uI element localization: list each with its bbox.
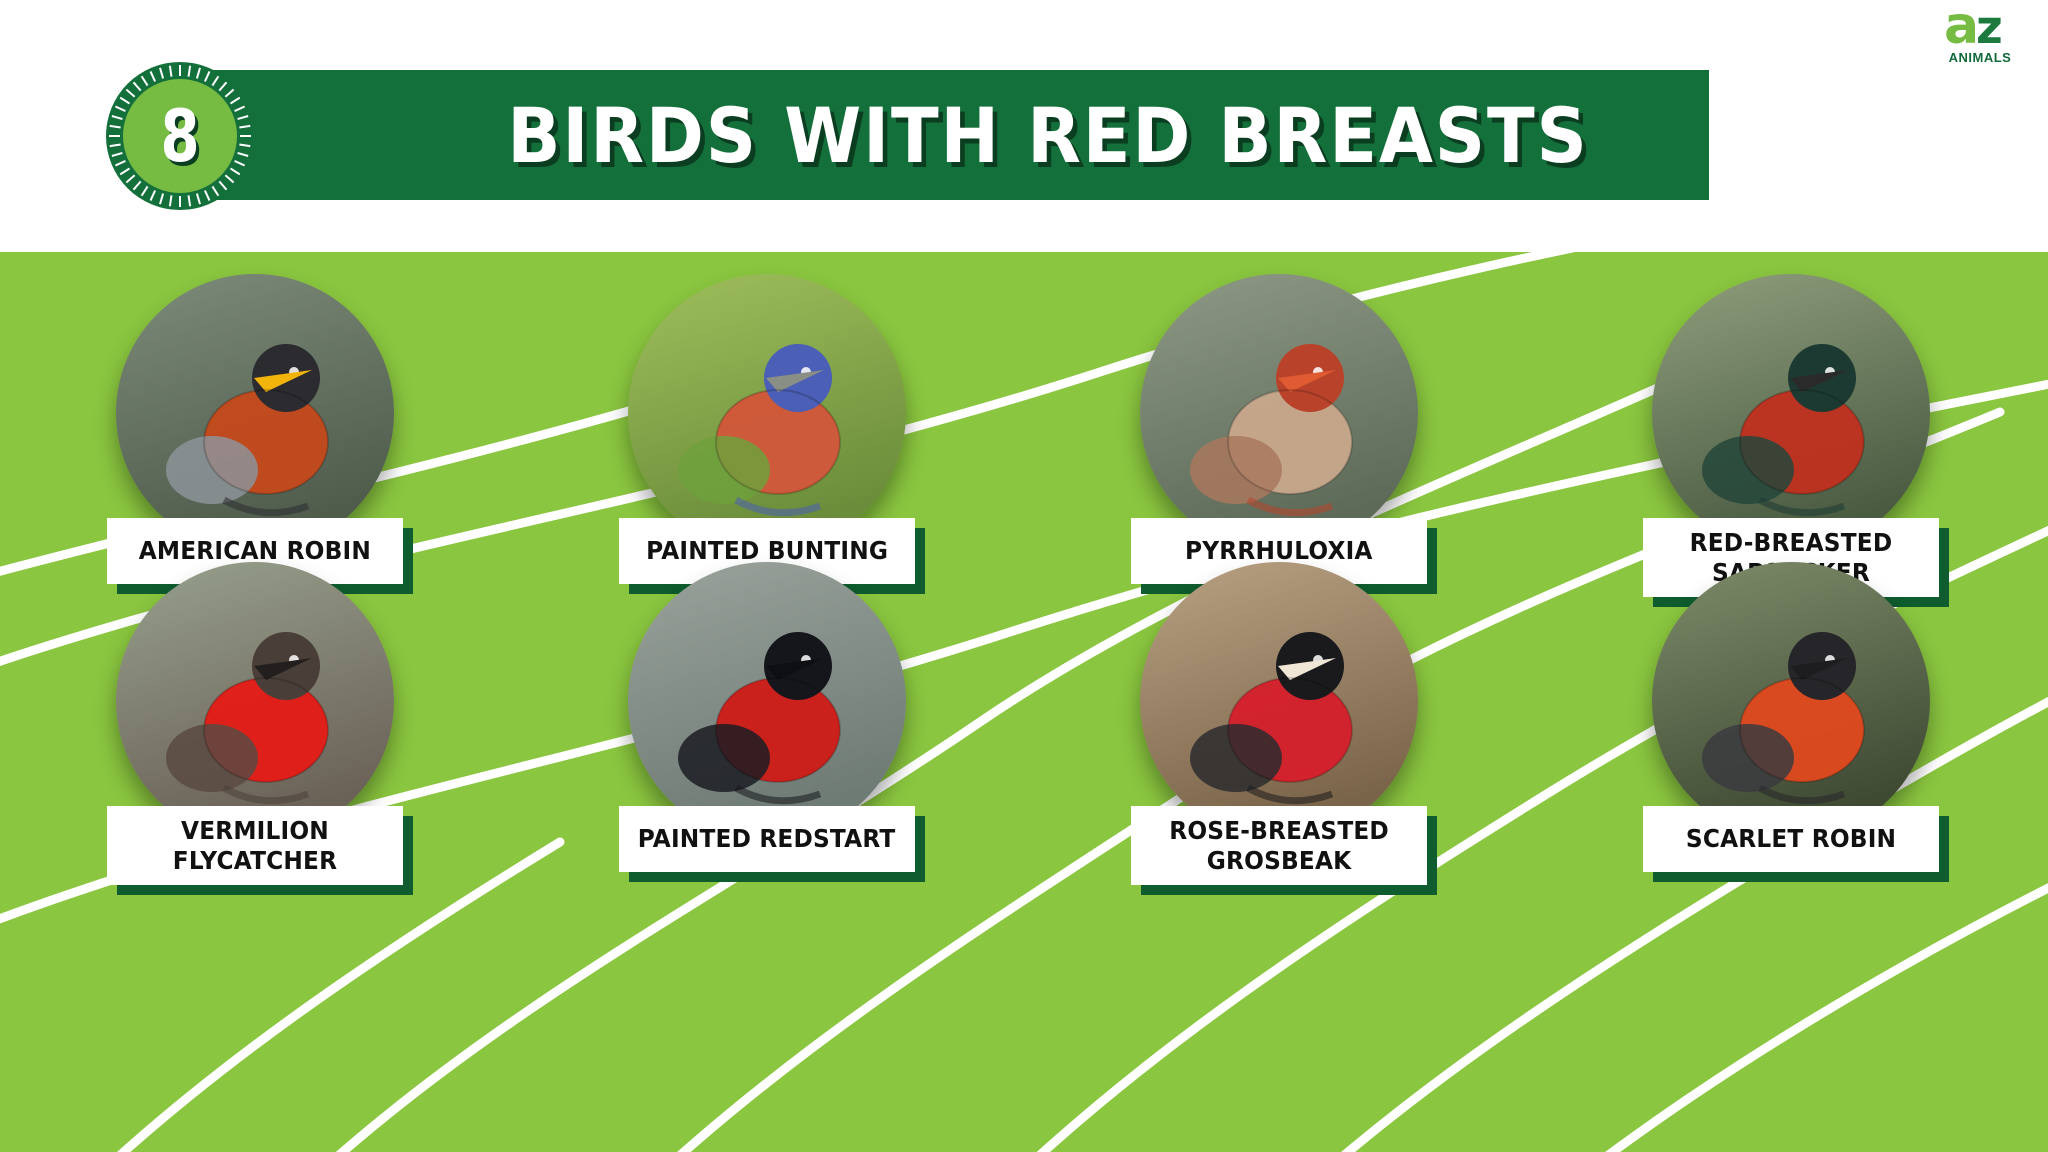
bird-label-box: VERMILION FLYCATCHER <box>107 806 403 885</box>
title-bar: BIRDS WITH RED BREASTS <box>148 70 1709 200</box>
bird-card[interactable]: RED-BREASTED SAPSUCKER <box>1626 274 1956 597</box>
bird-photo-circle <box>116 274 394 552</box>
bird-label-box: PAINTED REDSTART <box>619 806 915 872</box>
bird-card[interactable]: AMERICAN ROBIN <box>90 274 420 584</box>
bird-photo <box>1140 562 1418 840</box>
bird-name: VERMILION FLYCATCHER <box>125 816 385 875</box>
bird-photo <box>116 562 394 840</box>
bird-name: PAINTED REDSTART <box>638 824 896 854</box>
bird-label: SCARLET ROBIN <box>1643 806 1939 872</box>
bird-photo-circle <box>1140 562 1418 840</box>
bird-photo <box>1652 562 1930 840</box>
bird-card[interactable]: SCARLET ROBIN <box>1626 562 1956 872</box>
bird-photo <box>628 274 906 552</box>
bird-label: PAINTED REDSTART <box>619 806 915 872</box>
bird-card[interactable]: PYRRHULOXIA <box>1114 274 1444 584</box>
bird-photo <box>1140 274 1418 552</box>
bird-photo-circle <box>628 562 906 840</box>
content-panel: AMERICAN ROBINPAINTED BUNTINGPYRRHULOXIA… <box>0 252 2048 1152</box>
header: BIRDS WITH RED BREASTS 8 <box>0 0 2048 252</box>
bird-photo <box>116 274 394 552</box>
bird-card[interactable]: PAINTED BUNTING <box>602 274 932 584</box>
bird-label: VERMILION FLYCATCHER <box>107 806 403 885</box>
bird-card[interactable]: VERMILION FLYCATCHER <box>90 562 420 885</box>
badge-number: 8 <box>160 100 199 172</box>
bird-photo-circle <box>1652 274 1930 552</box>
badge-inner-circle: 8 <box>123 79 237 193</box>
bird-card[interactable]: PAINTED REDSTART <box>602 562 932 872</box>
count-badge: 8 <box>106 62 254 210</box>
infographic-page: a z ANIMALS BIRDS WITH RED BREASTS 8 <box>0 0 2048 1152</box>
bird-photo-circle <box>1652 562 1930 840</box>
bird-card[interactable]: ROSE-BREASTED GROSBEAK <box>1114 562 1444 885</box>
bird-grid: AMERICAN ROBINPAINTED BUNTINGPYRRHULOXIA… <box>0 252 2048 1152</box>
page-title: BIRDS WITH RED BREASTS <box>441 70 1655 200</box>
bird-photo-circle <box>628 274 906 552</box>
bird-photo <box>628 562 906 840</box>
bird-label: ROSE-BREASTED GROSBEAK <box>1131 806 1427 885</box>
bird-photo-circle <box>116 562 394 840</box>
bird-label-box: ROSE-BREASTED GROSBEAK <box>1131 806 1427 885</box>
bird-name: ROSE-BREASTED GROSBEAK <box>1169 816 1389 875</box>
bird-photo <box>1652 274 1930 552</box>
bird-name: SCARLET ROBIN <box>1686 824 1896 854</box>
bird-photo-circle <box>1140 274 1418 552</box>
bird-label-box: SCARLET ROBIN <box>1643 806 1939 872</box>
